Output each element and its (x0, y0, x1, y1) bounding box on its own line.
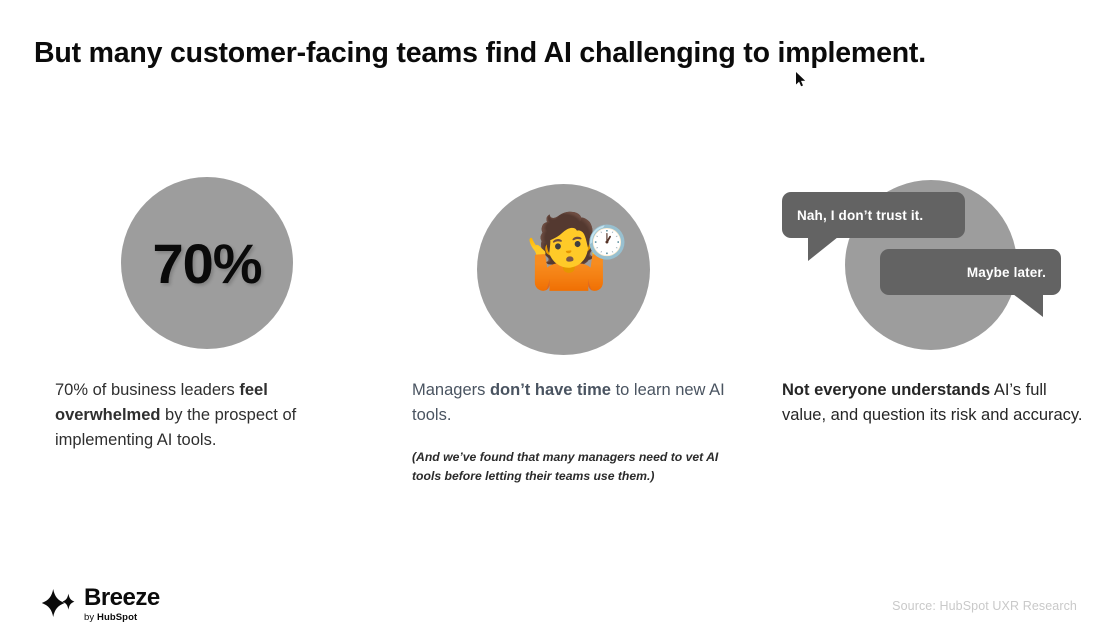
column-stat: 70% 70% of business leaders feel overwhe… (55, 160, 355, 453)
column-2-subcaption: (And we’ve found that many managers need… (412, 448, 732, 485)
column-3-caption: Not everyone understands AI’s full value… (782, 378, 1092, 428)
caption-text-bold: don’t have time (490, 381, 611, 399)
speech-bubble-first: Nah, I don’t trust it. (782, 192, 965, 238)
speech-bubble-second-text: Maybe later. (967, 265, 1046, 280)
stat-value: 70% (152, 231, 261, 296)
page-title: But many customer-facing teams find AI c… (34, 36, 1074, 70)
caption-text-lead: Managers (412, 381, 490, 399)
stat-graphic: 70% (55, 160, 355, 372)
column-2-caption: Managers don’t have time to learn new AI… (412, 378, 732, 428)
slide-canvas: But many customer-facing teams find AI c… (0, 0, 1108, 630)
clock-icon: 🕐 (587, 226, 627, 258)
column-1-caption: 70% of business leaders feel overwhelmed… (55, 378, 355, 453)
logo-byline-by: by (84, 612, 97, 623)
speech-bubble-first-text: Nah, I don’t trust it. (797, 208, 923, 223)
title-bold-part: find AI challenging to implement. (486, 37, 926, 69)
sparkle-icon (40, 589, 76, 622)
emoji-circle: 🤷 🕐 (477, 184, 650, 355)
logo-byline: by HubSpot (84, 613, 160, 623)
caption-text-lead: 70% of business leaders (55, 381, 239, 399)
column-time: 🤷 🕐 Managers don’t have time to learn ne… (412, 160, 732, 485)
source-attribution: Source: HubSpot UXR Research (892, 599, 1077, 613)
logo-wordmark: Breeze (84, 586, 160, 610)
title-regular-part: But many customer-facing teams (34, 37, 486, 69)
stat-circle: 70% (121, 177, 293, 349)
logo-text: Breeze by HubSpot (84, 586, 160, 623)
emoji-graphic: 🤷 🕐 (412, 160, 712, 372)
caption-text-bold: Not everyone understands (782, 381, 990, 399)
breeze-logo: Breeze by HubSpot (40, 586, 160, 623)
speech-bubble-second: Maybe later. (880, 249, 1061, 295)
mouse-cursor-icon (795, 72, 807, 88)
column-trust: Nah, I don’t trust it. Maybe later. Not … (782, 160, 1092, 428)
speech-bubble-graphic: Nah, I don’t trust it. Maybe later. (782, 160, 1082, 372)
logo-byline-brand: HubSpot (97, 612, 137, 623)
